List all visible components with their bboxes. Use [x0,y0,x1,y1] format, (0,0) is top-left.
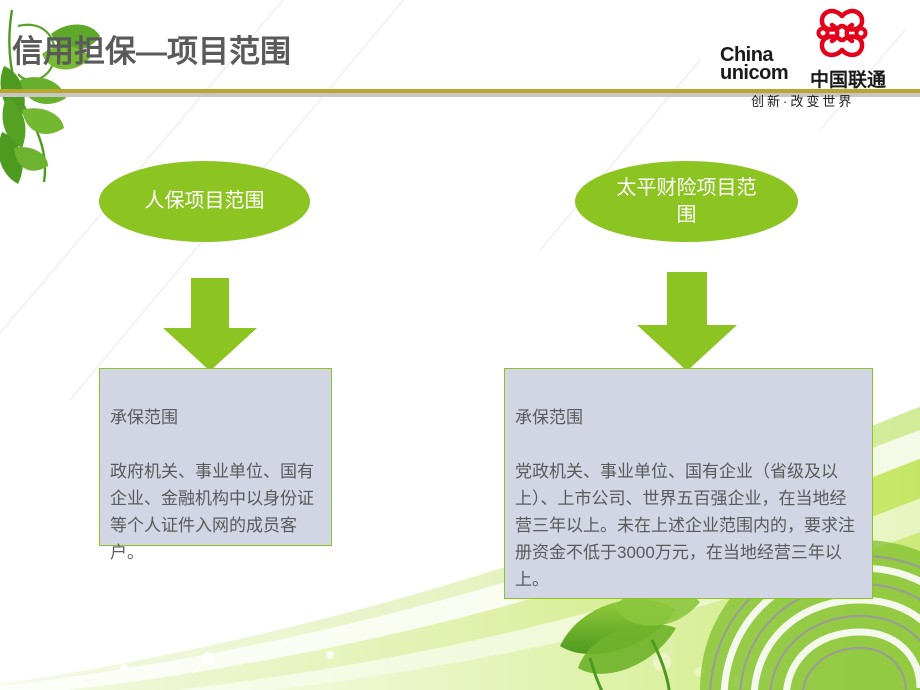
scope-box-left-heading: 承保范围 [110,404,322,431]
logo-tagline: 创新·改变世界 [751,91,854,110]
scope-box-right-body: 党政机关、事业单位、国有企业（省级及以上）、上市公司、世界五百强企业，在当地经营… [515,458,863,593]
down-arrow-icon-right [634,272,740,372]
ellipse-right-label: 太平财险项目范围 [613,175,760,229]
logo-wordmark: China unicom [720,46,788,82]
ellipse-taiping-scope[interactable]: 太平财险项目范围 [575,161,798,242]
logo-brand-chinese: 中国联通 [810,65,886,92]
ellipse-renbao-scope[interactable]: 人保项目范围 [99,161,310,242]
page-title: 信用担保—项目范围 [12,26,291,71]
scope-box-renbao: 承保范围 政府机关、事业单位、国有企业、金融机构中以身份证等个人证件入网的成员客… [99,368,332,546]
scope-box-right-heading: 承保范围 [515,404,863,431]
down-arrow-icon-left [160,278,260,372]
unicom-knot-icon [811,8,873,58]
ellipse-left-label: 人保项目范围 [135,188,274,215]
slide-canvas: 信用担保—项目范围 China unicom 中国联通 创新·改变世界 [0,0,920,690]
china-unicom-logo: China unicom 中国联通 创新·改变世界 [715,8,900,92]
scope-box-taiping: 承保范围 党政机关、事业单位、国有企业（省级及以上）、上市公司、世界五百强企业，… [504,368,873,599]
logo-brand-line2: unicom [720,64,788,82]
scope-box-left-body: 政府机关、事业单位、国有企业、金融机构中以身份证等个人证件入网的成员客户。 [110,458,322,566]
